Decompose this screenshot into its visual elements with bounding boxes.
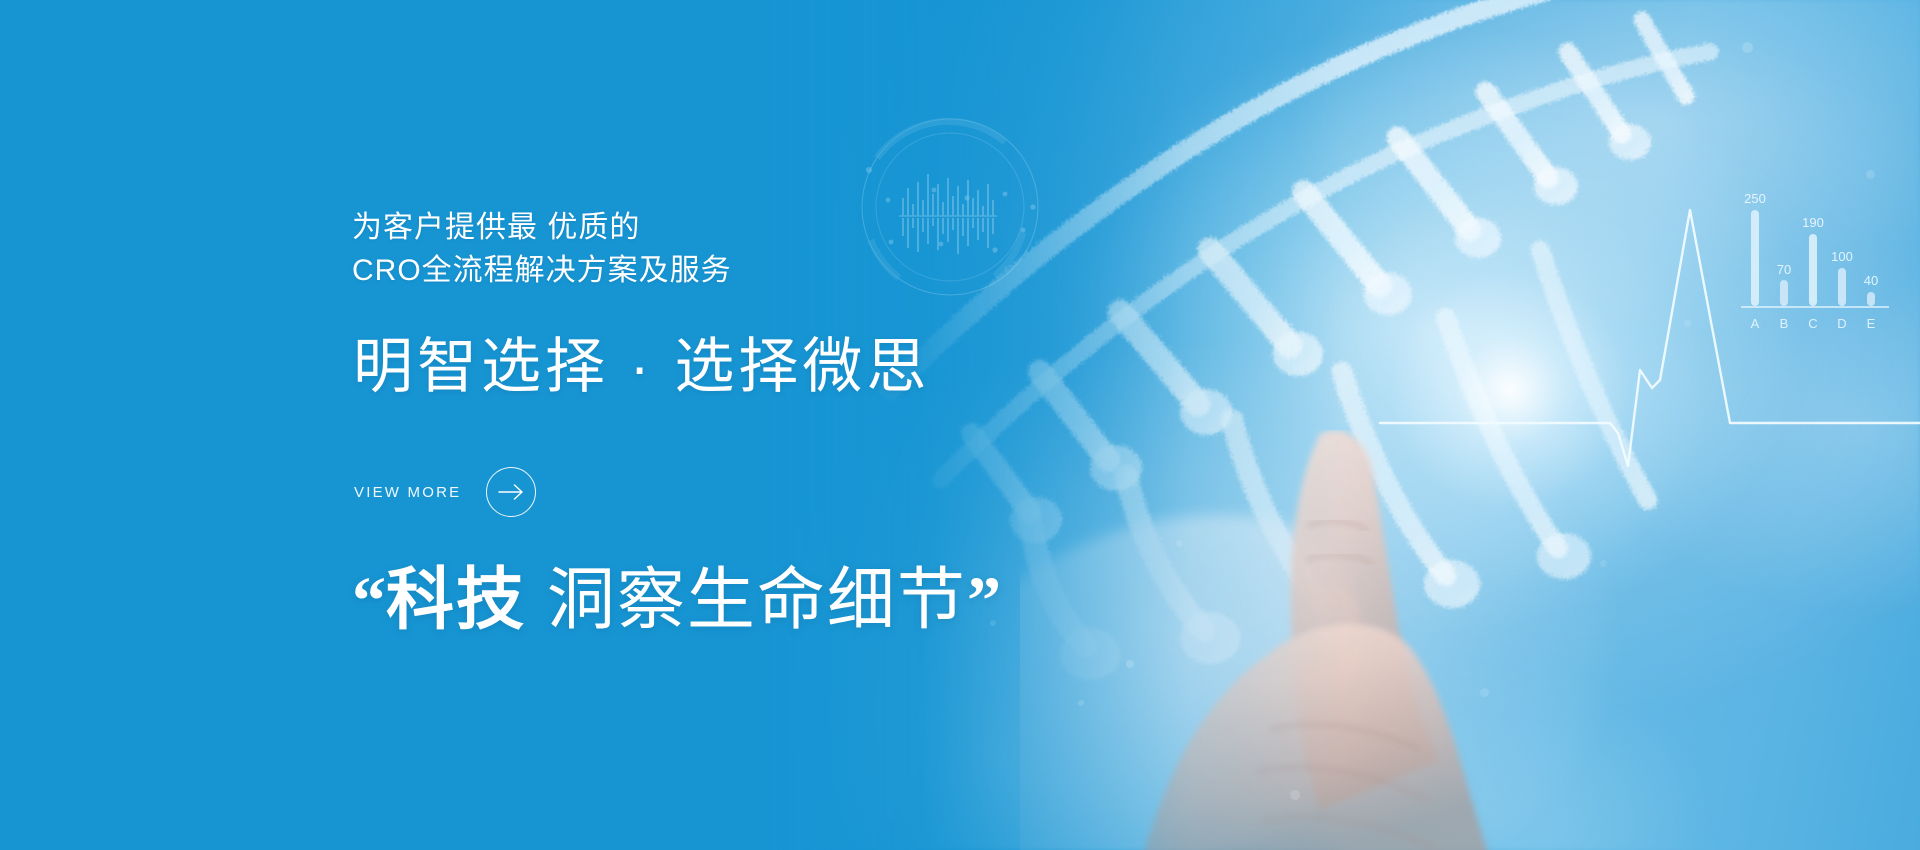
- view-more-button[interactable]: VIEW MORE: [354, 467, 536, 517]
- hero-quote: “科技 洞察生命细节”: [352, 552, 1001, 648]
- quote-light: 洞察生命细节: [547, 562, 967, 638]
- bar-chart: 250 70 190 100 40 A B C D E: [1735, 186, 1895, 361]
- quote-close-mark: ”: [967, 562, 1001, 638]
- bar-value-e: 40: [1864, 273, 1878, 288]
- bar-cat-d: D: [1837, 316, 1846, 331]
- view-more-circle[interactable]: [486, 467, 536, 517]
- bar-value-d: 100: [1831, 249, 1853, 264]
- bar-cat-e: E: [1867, 316, 1876, 331]
- view-more-label: VIEW MORE: [354, 484, 461, 501]
- bar-value-a: 250: [1744, 191, 1766, 206]
- arrow-right-icon: [498, 483, 524, 501]
- bar-cat-b: B: [1780, 316, 1789, 331]
- hero-subtitle: 为客户提供最 优质的 CRO全流程解决方案及服务: [352, 206, 732, 292]
- bar-cat-a: A: [1751, 316, 1760, 331]
- hero-headline: 明智选择 · 选择微思: [353, 330, 930, 404]
- bar-cat-c: C: [1808, 316, 1817, 331]
- bar-value-b: 70: [1777, 262, 1791, 277]
- hero-content: 为客户提供最 优质的 CRO全流程解决方案及服务 明智选择 · 选择微思 VIE…: [352, 0, 1352, 850]
- quote-strong: 科技: [386, 562, 526, 638]
- bar-value-c: 190: [1802, 215, 1824, 230]
- hero-banner: 250 70 190 100 40 A B C D E: [0, 0, 1920, 850]
- quote-open-mark: “: [352, 562, 386, 638]
- quote-space: [526, 562, 547, 638]
